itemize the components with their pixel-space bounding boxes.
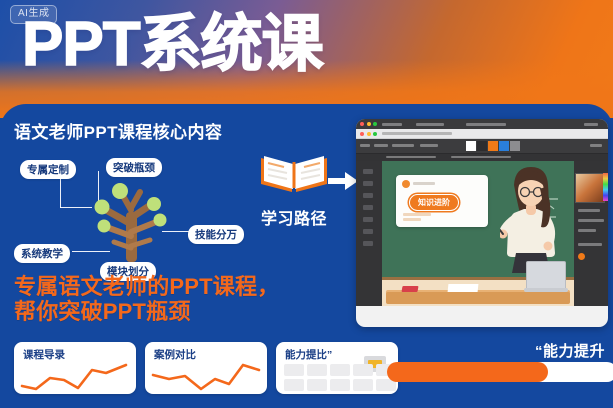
knowledge-badge: 知识进阶 (409, 194, 459, 211)
window-traffic-lights (360, 122, 377, 126)
panel-row-4 (578, 243, 602, 246)
block (307, 364, 327, 376)
tool-icon-5[interactable] (363, 217, 373, 222)
tab-close-icon[interactable] (360, 132, 364, 136)
slide-logo-icon (402, 180, 410, 188)
promo-headline-line1: 专属语文老师的PPT课程， (14, 274, 279, 299)
panel-row-2 (578, 219, 604, 222)
tool-icon-1[interactable] (363, 169, 373, 174)
block (330, 379, 350, 391)
properties-panel-right[interactable] (574, 161, 608, 306)
panel-row-3 (578, 229, 596, 232)
panel-layer-thumb (578, 253, 585, 260)
card-ability-comparison[interactable]: 能力提比” (276, 342, 398, 394)
minimize-icon[interactable] (367, 122, 371, 126)
tree-tag-breakthrough: 突破瓶颈 (106, 158, 162, 177)
card-case-comparison[interactable]: 案例对比 (145, 342, 267, 394)
right-arrow-icon (328, 172, 358, 190)
tabbar-traffic-lights (360, 132, 377, 136)
sparkline-chart-1 (18, 356, 132, 392)
editor-toolbar[interactable] (356, 139, 608, 154)
open-book-icon (257, 146, 331, 196)
slide-line-2 (403, 218, 421, 221)
titlebar-text-blur-4 (584, 123, 598, 126)
editor-options-row (356, 154, 608, 161)
tab-maximize-icon[interactable] (373, 132, 377, 136)
laptop-base (524, 288, 568, 292)
poster-root: AI生成 PPT系统课 语文老师PPT课程核心内容 (0, 0, 613, 408)
panel-row-1 (578, 209, 600, 212)
options-blur-1 (386, 156, 436, 158)
toolbar-item-1[interactable] (360, 144, 370, 147)
block (284, 379, 304, 391)
close-icon[interactable] (360, 122, 364, 126)
block (307, 379, 327, 391)
tree-tag-skills: 技能分万 (188, 225, 244, 244)
laptop-screen (526, 261, 566, 289)
card-course-outline[interactable]: 课程导录 (14, 342, 136, 394)
swatch-grey[interactable] (510, 141, 520, 151)
red-book (401, 286, 418, 292)
toolbar-item-3[interactable] (392, 144, 414, 147)
toolbar-item-4[interactable] (420, 144, 438, 147)
card-title: 能力提比” (285, 349, 332, 361)
feature-cards: 课程导录 案例对比 能力提比” (14, 342, 398, 394)
slide-line-1 (403, 213, 431, 216)
tool-icon-4[interactable] (363, 205, 373, 210)
block (353, 364, 373, 376)
presentation-slide: 知识进阶 (396, 175, 488, 227)
options-blur-2 (451, 156, 511, 158)
tool-icon-2[interactable] (363, 181, 373, 186)
swatch-orange[interactable] (488, 141, 498, 151)
window-titlebar (356, 119, 608, 129)
tools-panel-left[interactable] (356, 161, 382, 306)
tree-tag-system: 系统教学 (14, 244, 70, 263)
swatch-white[interactable] (466, 141, 476, 151)
color-swatches[interactable] (466, 141, 520, 151)
toolbar-item-5[interactable] (590, 144, 602, 147)
titlebar-text-blur-1 (382, 123, 402, 126)
maximize-icon[interactable] (373, 122, 377, 126)
titlebar-text-blur-3 (466, 123, 506, 126)
ability-boost-label: “能力提升 (535, 340, 605, 361)
browser-tabbar (356, 129, 608, 139)
titlebar-text-blur-2 (416, 123, 444, 126)
addressbar-blur[interactable] (382, 132, 452, 135)
tool-icon-3[interactable] (363, 193, 373, 198)
placeholder-blocks (284, 364, 396, 391)
tool-icon-7[interactable] (363, 241, 373, 246)
swatch-dark[interactable] (477, 141, 487, 151)
block (284, 364, 304, 376)
learning-path-label: 学习路径 (246, 205, 342, 229)
slide-logo-text-blur (413, 182, 435, 185)
swatch-blue[interactable] (499, 141, 509, 151)
color-picker-gradient[interactable] (575, 173, 605, 203)
tool-icon-6[interactable] (363, 229, 373, 234)
sparkline-chart-2 (149, 356, 263, 392)
hue-slider[interactable] (603, 173, 608, 201)
section-title: 语文老师PPT课程核心内容 (14, 118, 344, 143)
desk (386, 292, 570, 304)
editor-canvas: 知识进阶 (356, 161, 608, 306)
toolbar-item-2[interactable] (374, 144, 388, 147)
progress-bar-fill (387, 362, 548, 382)
paper-sheet (448, 284, 479, 292)
promo-headline-line2: 帮你突破PPT瓶颈 (14, 299, 279, 324)
ai-generated-badge: AI生成 (10, 5, 57, 24)
content-panel: 语文老师PPT课程核心内容 (0, 104, 613, 408)
block (353, 379, 373, 391)
tree-tag-custom: 专属定制 (20, 160, 76, 179)
progress-bar-track[interactable] (387, 362, 613, 382)
page-title: PPT系统课 (22, 8, 323, 82)
tree-diagram: 专属定制 突破瓶颈 技能分万 系统教学 模块划分 (14, 152, 260, 280)
header-banner: AI生成 PPT系统课 (0, 0, 613, 118)
promo-headline: 专属语文老师的PPT课程， 帮你突破PPT瓶颈 (14, 274, 279, 324)
teacher-illustration (500, 161, 562, 273)
editor-screenshot: 知识进阶 (356, 119, 608, 327)
tab-minimize-icon[interactable] (367, 132, 371, 136)
block (330, 364, 350, 376)
